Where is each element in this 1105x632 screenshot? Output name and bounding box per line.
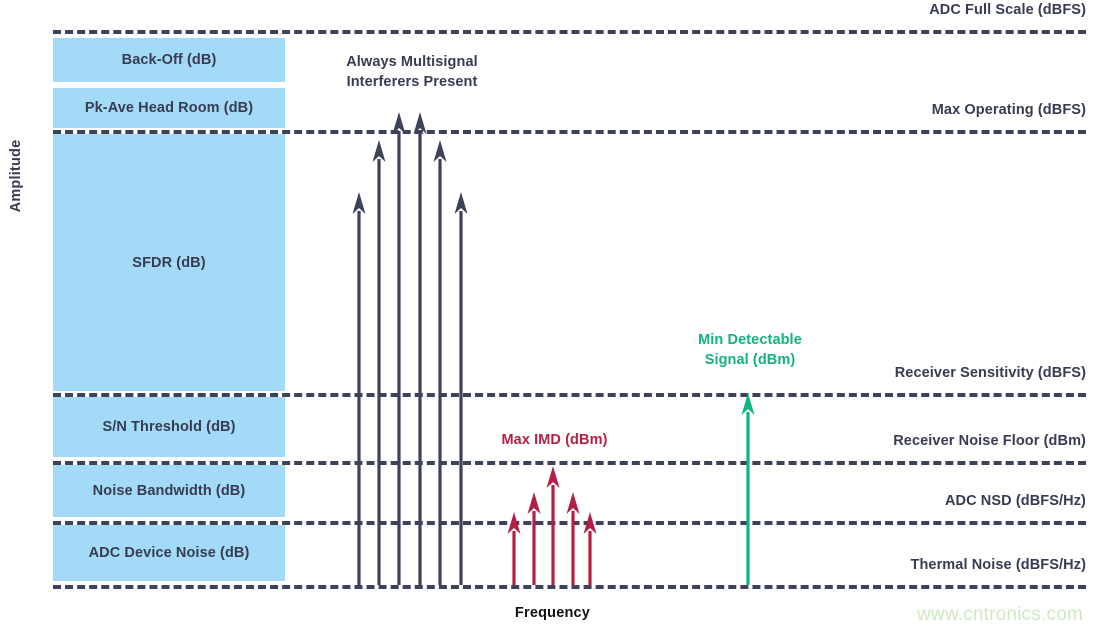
signal-arrow-head	[393, 112, 406, 134]
diagram-canvas: Amplitude ADC Full Scale (dBFS)Max Opera…	[0, 0, 1105, 632]
site-watermark: www.cntronics.com	[917, 604, 1083, 626]
signal-arrow-head	[742, 393, 755, 415]
signal-arrow-head	[353, 192, 366, 214]
signal-arrow-layer	[0, 0, 1105, 632]
signal-arrow-head	[414, 112, 427, 134]
signal-arrow-head	[373, 140, 386, 162]
signal-arrow-head	[584, 512, 597, 534]
signal-arrow-head	[434, 140, 447, 162]
signal-arrow-head	[455, 192, 468, 214]
annotation-interferers: Always Multisignal Interferers Present	[327, 52, 497, 92]
signal-arrow-head	[528, 492, 541, 514]
signal-arrow-head	[567, 492, 580, 514]
signal-arrow-head	[508, 512, 521, 534]
annotation-max-imd: Max IMD (dBm)	[487, 430, 622, 450]
signal-arrow-head	[547, 466, 560, 488]
annotation-min-detectable-signal: Min Detectable Signal (dBm)	[675, 330, 825, 370]
